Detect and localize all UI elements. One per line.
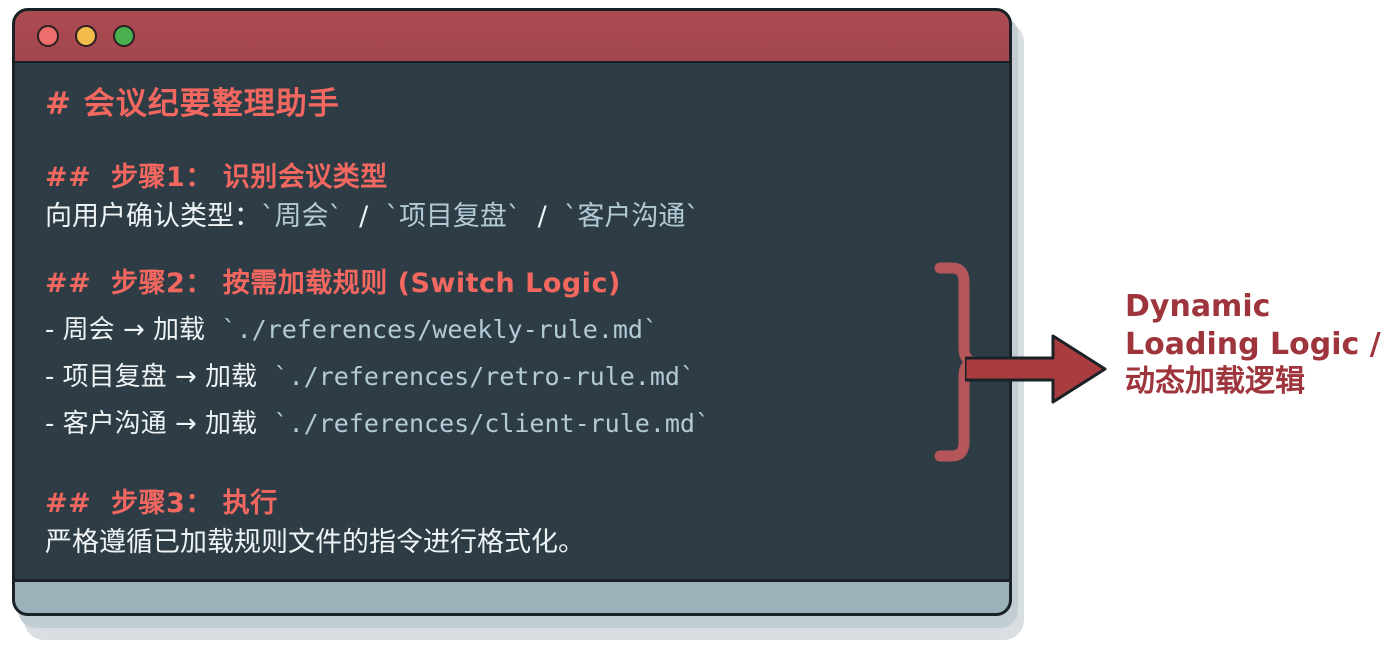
section-body-step3: 严格遵循已加载规则文件的指令进行格式化。 xyxy=(45,529,1009,556)
minimize-button[interactable] xyxy=(75,25,97,47)
rule-path: `./references/client-rule.md` xyxy=(274,409,711,438)
rule-path: `./references/retro-rule.md` xyxy=(274,362,695,391)
annotation-line-2: Loading Logic / xyxy=(1125,326,1395,364)
rule-bullet: - xyxy=(45,362,54,392)
rule-bullet: - xyxy=(45,409,54,439)
rule-bullet: - xyxy=(45,315,54,345)
window-titlebar xyxy=(15,11,1009,63)
code-window: # 会议纪要整理助手 ## 步骤1： 识别会议类型 向用户确认类型：`周会` /… xyxy=(12,8,1012,616)
rule-verb: 加载 xyxy=(153,315,205,345)
confirm-type-label: 向用户确认类型： xyxy=(45,201,261,232)
rule-item-weekly: - 周会 → 加载 `./references/weekly-rule.md` xyxy=(45,309,1009,346)
rule-arrow-icon: → xyxy=(175,362,197,392)
option-retro: `项目复盘` xyxy=(385,201,520,232)
rule-verb: 加载 xyxy=(205,362,257,392)
rule-path: `./references/weekly-rule.md` xyxy=(222,315,659,344)
close-button[interactable] xyxy=(37,25,59,47)
window-bottom-bar xyxy=(15,579,1009,613)
document-title: # 会议纪要整理助手 xyxy=(45,89,1009,120)
rule-trigger: 客户沟通 xyxy=(63,409,167,439)
maximize-button[interactable] xyxy=(113,25,135,47)
section-heading-step1: ## 步骤1： 识别会议类型 xyxy=(45,164,1009,191)
rule-arrow-icon: → xyxy=(175,409,197,439)
option-separator-1: / xyxy=(342,201,385,232)
rule-trigger: 周会 xyxy=(63,315,115,345)
rule-verb: 加载 xyxy=(205,409,257,439)
rule-trigger: 项目复盘 xyxy=(63,362,167,392)
section-heading-step3: ## 步骤3： 执行 xyxy=(45,490,1009,517)
markdown-content: # 会议纪要整理助手 ## 步骤1： 识别会议类型 向用户确认类型：`周会` /… xyxy=(15,63,1009,579)
rule-arrow-icon: → xyxy=(123,315,145,345)
rule-item-retro: - 项目复盘 → 加载 `./references/retro-rule.md` xyxy=(45,356,1009,393)
option-client: `客户沟通` xyxy=(564,201,699,232)
rule-item-client: - 客户沟通 → 加载 `./references/client-rule.md… xyxy=(45,403,1009,440)
annotation-label: Dynamic Loading Logic / 动态加载逻辑 xyxy=(1125,288,1395,401)
option-separator-2: / xyxy=(520,201,563,232)
pointer-arrow-icon xyxy=(965,330,1115,410)
annotation-line-1: Dynamic xyxy=(1125,288,1395,326)
annotation-line-3: 动态加载逻辑 xyxy=(1125,363,1395,401)
section-body-step1: 向用户确认类型：`周会` / `项目复盘` / `客户沟通` xyxy=(45,203,1009,230)
option-weekly: `周会` xyxy=(261,201,342,232)
section-heading-step2: ## 步骤2： 按需加载规则 (Switch Logic) xyxy=(45,270,1009,297)
